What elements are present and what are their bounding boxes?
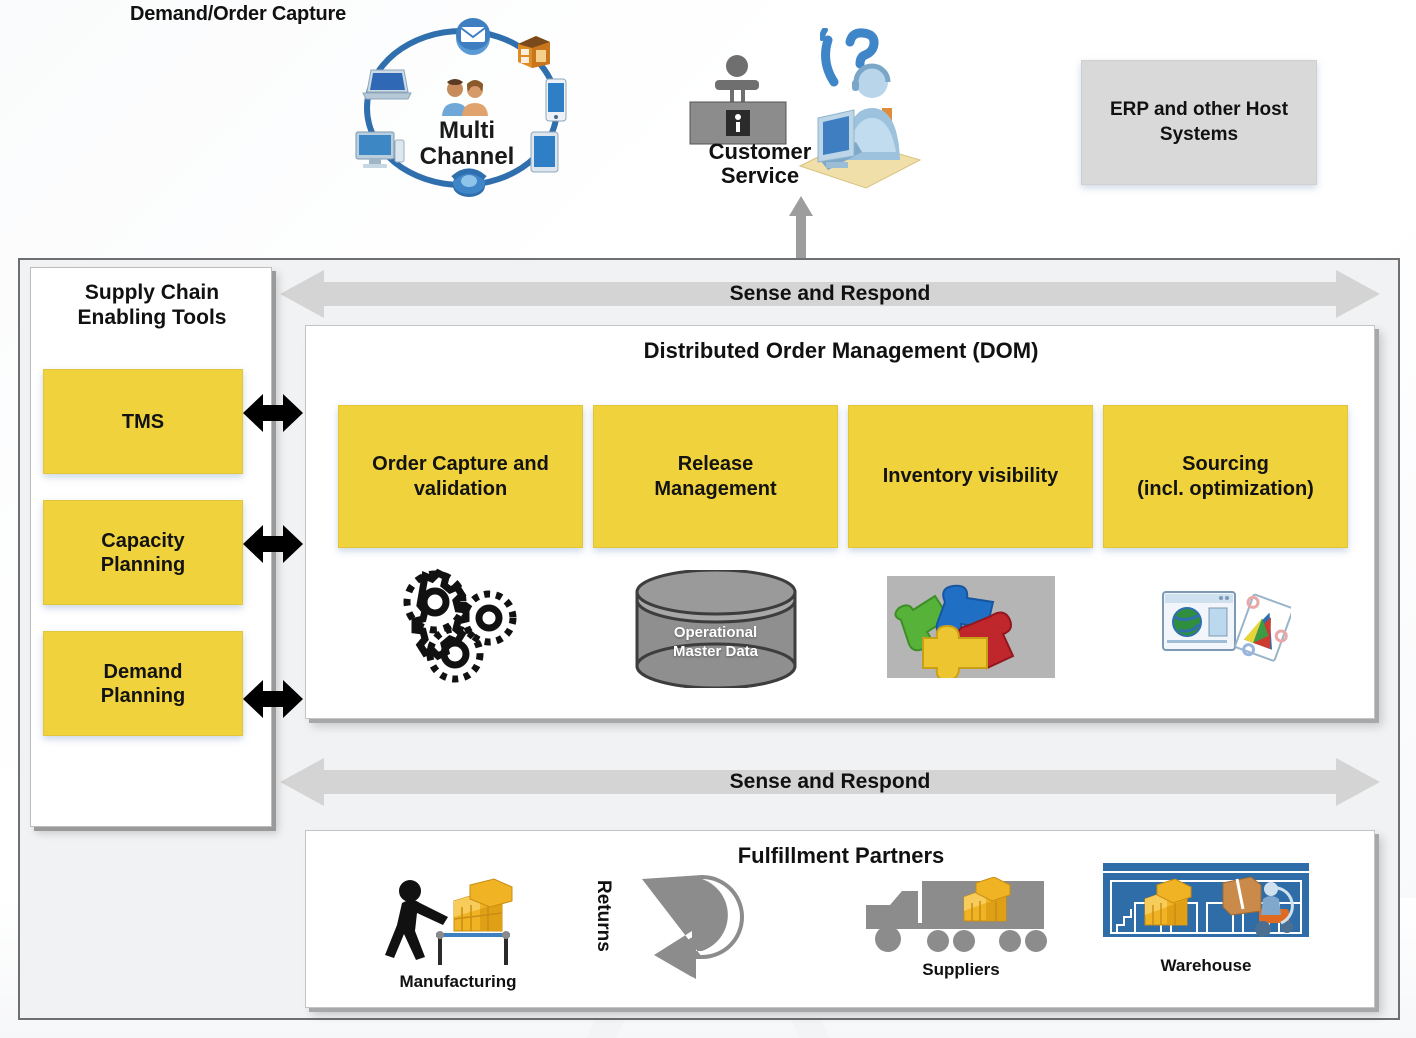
- tms-label: TMS: [122, 410, 164, 434]
- capacity-planning-label-line1: Capacity: [101, 529, 185, 553]
- dom-icon-cell-puzzle: [848, 564, 1093, 694]
- dom-box-order-capture[interactable]: Order Capture and validation: [338, 405, 583, 548]
- sidebar-item-demand-planning[interactable]: Demand Planning: [43, 631, 243, 736]
- dom-title: Distributed Order Management (DOM): [306, 338, 1376, 364]
- sense-and-respond-band-bottom: Sense and Respond: [280, 756, 1380, 808]
- multi-channel-label-line1: Multi: [352, 118, 582, 144]
- dom-box-inventory-visibility-line1: Inventory visibility: [883, 464, 1059, 489]
- database-caption: Operational Master Data: [631, 624, 801, 662]
- people-icon: [436, 78, 494, 118]
- manufacturing-label: Manufacturing: [358, 972, 558, 992]
- dom-box-sourcing-line1: Sourcing: [1137, 452, 1314, 477]
- suppliers-label: Suppliers: [846, 960, 1076, 980]
- supply-chain-enabling-tools-panel: Supply Chain Enabling Tools TMS Capacity…: [30, 267, 272, 827]
- sidebar-item-tms[interactable]: TMS: [43, 369, 243, 474]
- multi-channel-label: Multi Channel: [352, 118, 582, 170]
- customer-service-label-line1: Customer: [660, 140, 860, 164]
- demand-order-capture-label: Demand/Order Capture: [130, 3, 346, 26]
- sense-and-respond-label-bottom: Sense and Respond: [280, 756, 1380, 808]
- dom-box-order-capture-line1: Order Capture and: [372, 452, 549, 477]
- dom-icon-cell-database: Operational Master Data: [593, 564, 838, 694]
- supply-chain-title-line2: Enabling Tools: [31, 305, 273, 330]
- double-arrow-demand-icon: [243, 676, 303, 727]
- dom-capability-boxes: Order Capture and validation Release Man…: [338, 405, 1348, 548]
- demand-planning-label-line1: Demand: [101, 660, 185, 684]
- sense-and-respond-label-top: Sense and Respond: [280, 268, 1380, 320]
- puzzle-pieces-icon: [887, 576, 1055, 683]
- database-caption-line2: Master Data: [631, 643, 801, 662]
- dom-box-sourcing-line2: (incl. optimization): [1137, 477, 1314, 502]
- fulfillment-item-manufacturing[interactable]: Manufacturing: [358, 875, 558, 992]
- dom-box-order-capture-line2: validation: [372, 477, 549, 502]
- fulfillment-partners-panel: Fulfillment Partners: [305, 830, 1375, 1008]
- customer-service-group: Customer Service: [660, 28, 930, 208]
- dom-icon-cell-gears: [338, 564, 583, 694]
- warehouse-icon: [1101, 938, 1311, 955]
- laptop-icon: [362, 66, 412, 109]
- worker-pushing-boxes-icon: [378, 954, 538, 971]
- database-caption-line1: Operational: [631, 624, 801, 643]
- truck-icon: [860, 942, 1062, 959]
- dom-box-sourcing[interactable]: Sourcing (incl. optimization): [1103, 405, 1348, 548]
- returns-label: Returns: [592, 880, 614, 952]
- sense-and-respond-band-top: Sense and Respond: [280, 268, 1380, 320]
- dom-icon-cell-globe-chart: [1103, 564, 1348, 694]
- double-arrow-tms-icon: [243, 390, 303, 441]
- demand-planning-label-line2: Planning: [101, 684, 185, 708]
- fulfillment-item-suppliers[interactable]: Suppliers: [846, 877, 1076, 980]
- email-icon: [452, 16, 494, 61]
- dom-icon-row: Operational Master Data: [338, 564, 1348, 694]
- returns-u-turn-arrow-icon: [636, 873, 766, 986]
- supply-chain-title: Supply Chain Enabling Tools: [31, 280, 273, 330]
- distributed-order-management-panel: Distributed Order Management (DOM) Order…: [305, 325, 1375, 719]
- supply-chain-title-line1: Supply Chain: [31, 280, 273, 305]
- dom-box-release-management-line1: Release: [654, 452, 776, 477]
- database-cylinder-icon: Operational Master Data: [631, 570, 801, 688]
- customer-service-label: Customer Service: [660, 140, 860, 188]
- gears-icon: [397, 566, 525, 693]
- double-arrow-capacity-icon: [243, 521, 303, 572]
- globe-chart-icon: [1161, 586, 1291, 673]
- multi-channel-group: Multi Channel: [352, 20, 582, 200]
- warehouse-label: Warehouse: [1096, 956, 1316, 976]
- customer-service-label-line2: Service: [660, 164, 860, 188]
- fulfillment-item-warehouse[interactable]: Warehouse: [1096, 863, 1316, 976]
- dom-box-release-management-line2: Management: [654, 477, 776, 502]
- erp-label-line1: ERP and other Host: [1110, 98, 1288, 123]
- multi-channel-label-line2: Channel: [352, 144, 582, 170]
- sidebar-item-capacity-planning[interactable]: Capacity Planning: [43, 500, 243, 605]
- dom-box-release-management[interactable]: Release Management: [593, 405, 838, 548]
- dom-box-inventory-visibility[interactable]: Inventory visibility: [848, 405, 1093, 548]
- erp-host-systems-box: ERP and other Host Systems: [1081, 60, 1317, 185]
- store-icon: [514, 32, 554, 75]
- erp-label-line2: Systems: [1110, 123, 1288, 148]
- capacity-planning-label-line2: Planning: [101, 553, 185, 577]
